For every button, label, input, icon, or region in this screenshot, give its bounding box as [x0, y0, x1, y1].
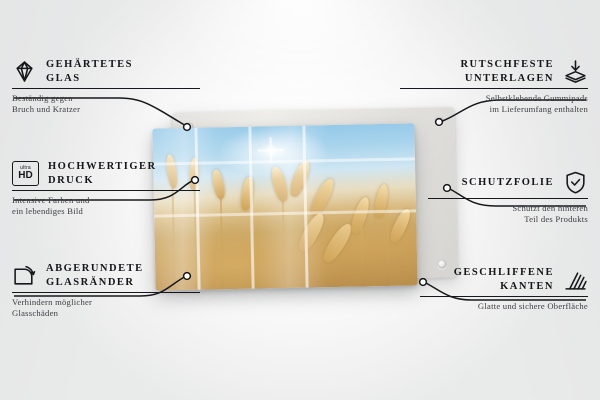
hatch-lines-icon [563, 267, 588, 292]
shield-check-icon [563, 170, 588, 195]
feature-divider [428, 198, 588, 199]
feature-title: ABGERUNDETE GLASRÄNDER [46, 262, 144, 289]
feature-divider [12, 88, 200, 89]
ultra-hd-icon: ultra HD [12, 161, 39, 186]
feature-title: RUTSCHFESTE UNTERLAGEN [460, 58, 554, 85]
feature-hochwertiger-druck: ultra HD HOCHWERTIGER DRUCK Intensive Fa… [12, 160, 200, 217]
feature-gehaertetes-glas: GEHÄRTETES GLAS Beständig gegen Bruch un… [12, 58, 200, 115]
diamond-icon [12, 59, 37, 84]
feature-divider [420, 296, 588, 297]
feature-divider [12, 190, 200, 191]
infographic-canvas: GEHÄRTETES GLAS Beständig gegen Bruch un… [0, 0, 600, 400]
feature-description: Glatte und sichere Oberfläche [420, 301, 588, 312]
feature-description: Schützt den hinteren Teil des Produkts [428, 203, 588, 224]
feature-divider [400, 88, 588, 89]
feature-rutschfeste-unterlagen: RUTSCHFESTE UNTERLAGEN Selbstklebende Gu… [400, 58, 588, 115]
feature-description: Intensive Farben und ein lebendiges Bild [12, 195, 200, 216]
feature-title: GESCHLIFFENE KANTEN [454, 266, 554, 293]
feature-schutzfolie: SCHUTZFOLIE Schützt den hinteren Teil de… [428, 170, 588, 225]
ultra-hd-icon-main-label: HD [18, 171, 32, 181]
rounded-corner-icon [12, 263, 37, 288]
feature-description: Verhindern möglicher Glasschäden [12, 297, 200, 318]
feature-geschliffene-kanten: GESCHLIFFENE KANTEN Glatte und sichere O… [420, 266, 588, 312]
feature-divider [12, 292, 200, 293]
screw-top-right [434, 116, 443, 125]
feature-title: SCHUTZFOLIE [462, 176, 554, 190]
rubber-pad-icon [563, 59, 588, 84]
feature-description: Beständig gegen Bruch und Kratzer [12, 93, 200, 114]
feature-title: HOCHWERTIGER DRUCK [48, 160, 157, 187]
feature-description: Selbstklebende Gummipads im Lieferumfang… [400, 93, 588, 114]
feature-abgerundete-glasraender: ABGERUNDETE GLASRÄNDER Verhindern möglic… [12, 262, 200, 319]
feature-title: GEHÄRTETES GLAS [46, 58, 133, 85]
